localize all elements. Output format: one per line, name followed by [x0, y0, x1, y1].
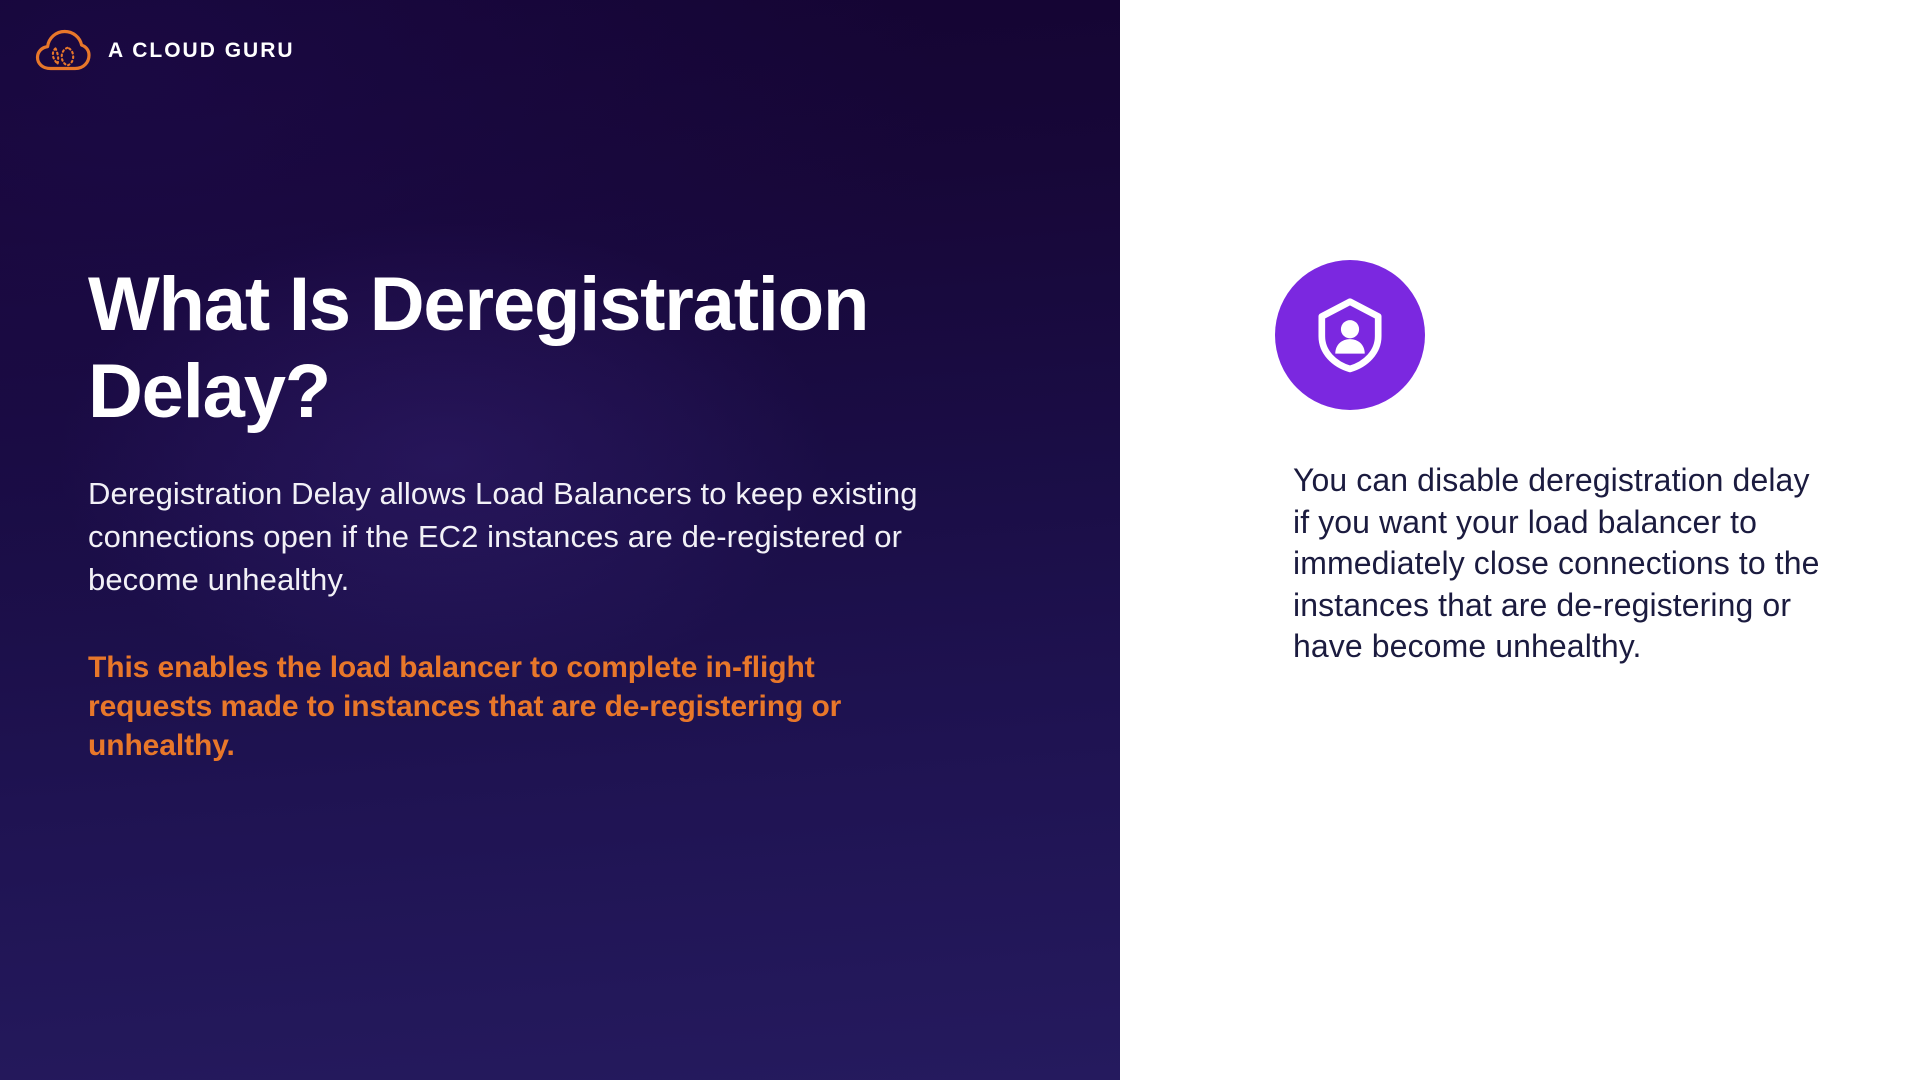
slide-root: A CLOUD GURU What Is Deregistration Dela…	[0, 0, 1920, 1080]
right-white-panel: You can disable deregistration delay if …	[1120, 0, 1920, 1080]
brand-name: A CLOUD GURU	[108, 40, 295, 61]
left-content-block: What Is Deregistration Delay? Deregistra…	[88, 262, 968, 765]
cloud-outline-icon	[34, 28, 92, 72]
page-title: What Is Deregistration Delay?	[88, 262, 918, 435]
left-highlight-paragraph: This enables the load balancer to comple…	[88, 648, 908, 765]
left-dark-panel: A CLOUD GURU What Is Deregistration Dela…	[0, 0, 1120, 1080]
left-body-paragraph: Deregistration Delay allows Load Balance…	[88, 473, 948, 601]
brand-logo: A CLOUD GURU	[34, 28, 295, 72]
right-body-paragraph: You can disable deregistration delay if …	[1293, 460, 1833, 668]
shield-person-icon	[1275, 260, 1425, 410]
